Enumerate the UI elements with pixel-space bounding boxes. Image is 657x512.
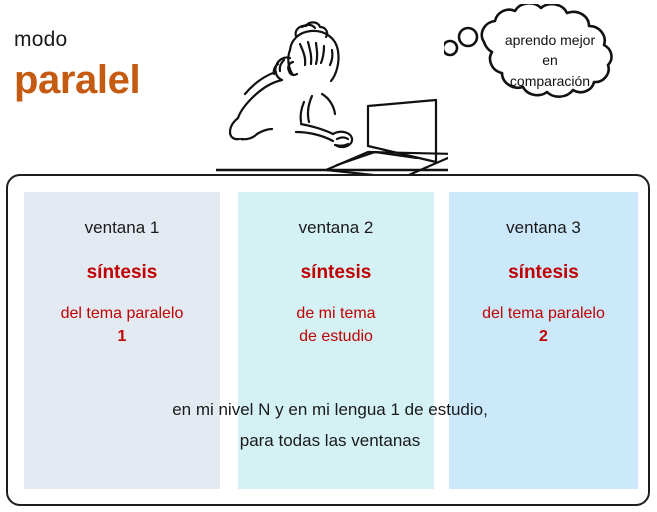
synthesis-description-3: del tema paralelo 2 [449,302,638,348]
mode-eyebrow-label: modo [14,28,244,51]
windows-columns: ventana 1 síntesis del tema paralelo 1 v… [8,176,652,508]
synthesis-desc-line-2-2: de estudio [238,325,434,348]
thought-bubble-icon: aprendo mejor en comparación [444,4,656,130]
window-label-3: ventana 3 [449,218,638,238]
thought-bubble-text: aprendo mejor en comparación [474,30,626,91]
window-label-2: ventana 2 [238,218,434,238]
synthesis-desc-line-2-1: de mi tema [238,302,434,325]
mode-title: paralel [14,59,244,101]
synthesis-number-3: 2 [449,325,638,348]
synthesis-description-1: del tema paralelo 1 [24,302,220,348]
window-column-1[interactable]: ventana 1 síntesis del tema paralelo 1 [24,192,220,489]
thought-line-3: comparación [474,71,626,91]
thought-line-1: aprendo mejor [474,30,626,50]
synthesis-desc-line-3-1: del tema paralelo [449,302,638,325]
synthesis-title-3: síntesis [449,262,638,285]
synthesis-title-2: síntesis [238,262,434,285]
synthesis-number-1: 1 [24,325,220,348]
windows-panel: ventana 1 síntesis del tema paralelo 1 v… [6,174,650,506]
diagram-canvas: modo paralel [0,0,657,512]
thought-line-2: en [474,50,626,70]
header-block: modo paralel [14,28,244,101]
person-studying-at-laptop-icon [216,2,448,174]
synthesis-desc-line-1-1: del tema paralelo [24,302,220,325]
synthesis-title-1: síntesis [24,262,220,285]
window-label-1: ventana 1 [24,218,220,238]
synthesis-description-2: de mi tema de estudio [238,302,434,348]
window-column-2[interactable]: ventana 2 síntesis de mi tema de estudio [238,192,434,489]
window-column-3[interactable]: ventana 3 síntesis del tema paralelo 2 [449,192,638,489]
